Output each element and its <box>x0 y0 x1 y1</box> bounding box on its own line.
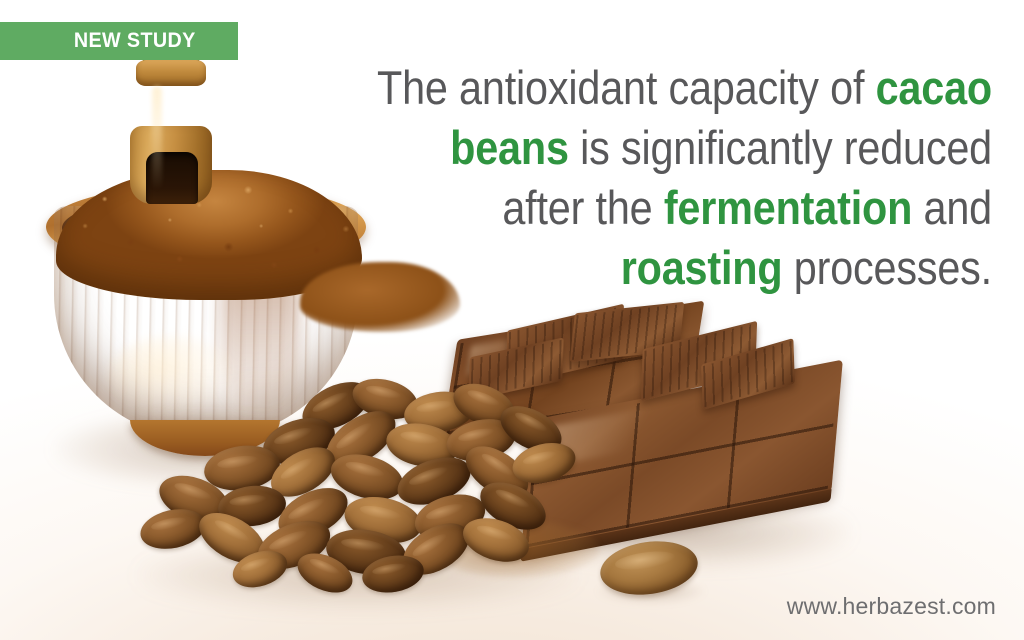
headline-text: and <box>912 181 992 234</box>
bowl-gloss-highlight <box>109 336 237 415</box>
headline-emphasis-roasting: roasting <box>621 241 783 294</box>
website-url: www.herbazest.com <box>787 593 996 620</box>
headline-line-3: after the fermentation and <box>358 178 992 238</box>
headline-text: The antioxidant capacity of <box>377 61 876 114</box>
headline-line-1: The antioxidant capacity of cacao <box>358 58 992 118</box>
new-study-banner: NEW STUDY <box>0 22 238 60</box>
new-study-banner-label: NEW STUDY <box>42 29 196 53</box>
headline-text: is significantly reduced <box>569 121 992 174</box>
headline-emphasis-fermentation: fermentation <box>664 181 912 234</box>
scoop-highlight <box>152 86 162 190</box>
headline-line-2: beans is significantly reduced <box>358 118 992 178</box>
poster-canvas: NEW STUDY The antioxidant capacity of ca… <box>0 0 1024 640</box>
headline-text: after the <box>502 181 663 234</box>
headline-emphasis-cacao: cacao <box>876 61 992 114</box>
headline-emphasis-beans: beans <box>450 121 569 174</box>
headline: The antioxidant capacity of cacaobeans i… <box>358 58 992 298</box>
wooden-scoop <box>118 34 218 214</box>
headline-line-4: roasting processes. <box>358 238 992 298</box>
headline-text: processes. <box>782 241 992 294</box>
